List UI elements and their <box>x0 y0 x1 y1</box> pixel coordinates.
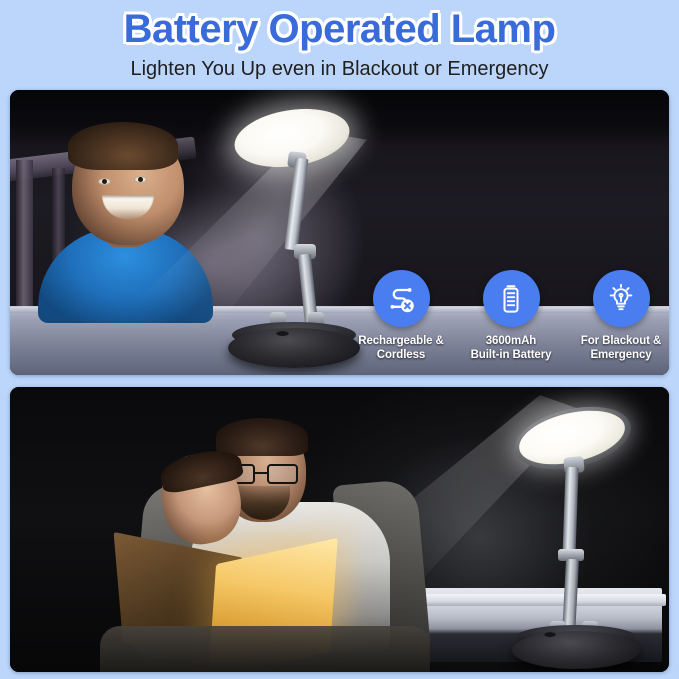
eyeglass-bridge <box>255 472 267 474</box>
boy-hair <box>68 122 178 170</box>
top-lifestyle-photo: Rechargeable & Cordless 3600mAh Built-in… <box>10 90 669 375</box>
feature-label: Rechargeable & Cordless <box>358 334 444 362</box>
lamp-power-button[interactable] <box>276 330 289 336</box>
page-subtitle: Lighten You Up even in Blackout or Emerg… <box>0 55 679 83</box>
cordless-cable-icon <box>373 270 430 327</box>
boy-pupil-left <box>102 179 107 184</box>
bedtime-reading-scene <box>10 387 669 672</box>
feature-battery-capacity: 3600mAh Built-in Battery <box>460 270 562 362</box>
feature-blackout-emergency: For Blackout & Emergency <box>570 270 669 362</box>
desk-lamp-top <box>220 96 370 371</box>
boy-pupil-right <box>138 177 143 182</box>
feature-label: 3600mAh Built-in Battery <box>471 334 552 362</box>
bedroom-scene: Rechargeable & Cordless 3600mAh Built-in… <box>10 90 669 375</box>
battery-icon <box>483 270 540 327</box>
feature-label: For Blackout & Emergency <box>581 334 661 362</box>
page-title: Battery Operated Lamp <box>0 4 679 54</box>
blanket-foreground <box>100 626 430 672</box>
eyeglass-lens-right <box>267 464 298 484</box>
lamp-base <box>512 631 640 669</box>
father-hair <box>216 418 308 456</box>
lamp-power-button[interactable] <box>544 631 556 637</box>
feature-badges: Rechargeable & Cordless 3600mAh Built-in… <box>350 270 669 366</box>
lamp-upper-arm <box>562 467 578 557</box>
lightbulb-icon <box>593 270 650 327</box>
desk-lamp-bottom <box>500 399 650 647</box>
feature-rechargeable-cordless: Rechargeable & Cordless <box>350 270 452 362</box>
header: Battery Operated Lamp Lighten You Up eve… <box>0 0 679 90</box>
lamp-base <box>228 328 360 368</box>
product-infographic: Battery Operated Lamp Lighten You Up eve… <box>0 0 679 679</box>
bottom-lifestyle-photo <box>10 387 669 672</box>
